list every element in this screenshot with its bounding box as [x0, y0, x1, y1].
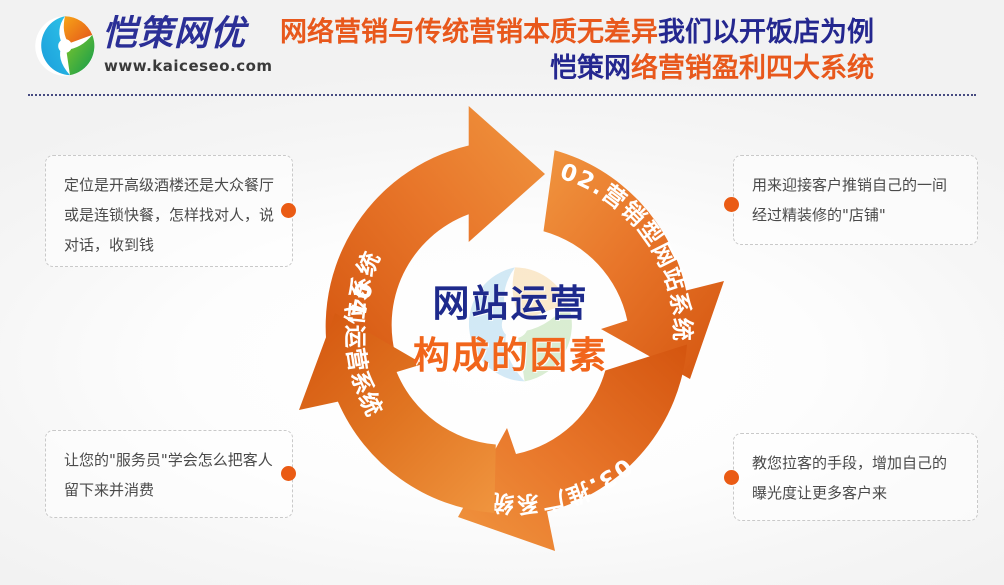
- headline-line-2-orange: 络营销盈利四大系统: [631, 53, 874, 83]
- callout-top-left-text: 定位是开高级酒楼还是大众餐厅或是连锁快餐，怎样找对人，说对话，收到钱: [64, 170, 274, 260]
- cycle-diagram: 01.定位系统 02.营销型网站系统 03.推广系统: [283, 96, 738, 564]
- page-header: 恺策网优 www.kaiceseo.com 网络营销与传统营销本质无差异我们以开…: [0, 0, 1004, 92]
- callout-top-left: 定位是开高级酒楼还是大众餐厅或是连锁快餐，怎样找对人，说对话，收到钱: [45, 155, 293, 267]
- headline-line-2-navy: 恺策网: [550, 53, 631, 83]
- brand-url: www.kaiceseo.com: [104, 57, 273, 75]
- callout-top-right: 用来迎接客户推销自己的一间经过精装修的"店铺": [733, 155, 978, 245]
- cycle-segment-02[interactable]: 02.营销型网站系统: [544, 150, 725, 379]
- headline-line-1: 网络营销与传统营销本质无差异我们以开饭店为例: [280, 14, 874, 50]
- brand-logo[interactable]: 恺策网优 www.kaiceseo.com: [34, 13, 274, 79]
- connector-dot-top-right: [724, 197, 739, 212]
- callout-top-right-text: 用来迎接客户推销自己的一间经过精装修的"店铺": [752, 170, 959, 230]
- page-canvas: 恺策网优 www.kaiceseo.com 网络营销与传统营销本质无差异我们以开…: [0, 0, 1004, 585]
- callout-bottom-left-text: 让您的"服务员"学会怎么把客人留下来并消费: [64, 445, 274, 505]
- brand-name: 恺策网优: [102, 13, 246, 55]
- callout-bottom-right: 教您拉客的手段，增加自己的曝光度让更多客户来: [733, 433, 978, 521]
- headline: 网络营销与传统营销本质无差异我们以开饭店为例 恺策网络营销盈利四大系统: [280, 14, 874, 86]
- connector-dot-bottom-right: [724, 470, 739, 485]
- connector-dot-top-left: [281, 203, 296, 218]
- headline-line-2: 恺策网络营销盈利四大系统: [280, 50, 874, 86]
- callout-bottom-right-text: 教您拉客的手段，增加自己的曝光度让更多客户来: [752, 448, 959, 508]
- callout-bottom-left: 让您的"服务员"学会怎么把客人留下来并消费: [45, 430, 293, 518]
- headline-line-1-orange: 网络营销与传统营销本质无差异: [280, 17, 658, 47]
- pinwheel-circle-logo-icon: [34, 15, 96, 77]
- connector-dot-bottom-left: [281, 466, 296, 481]
- headline-line-1-navy: 我们以开饭店为例: [658, 17, 874, 47]
